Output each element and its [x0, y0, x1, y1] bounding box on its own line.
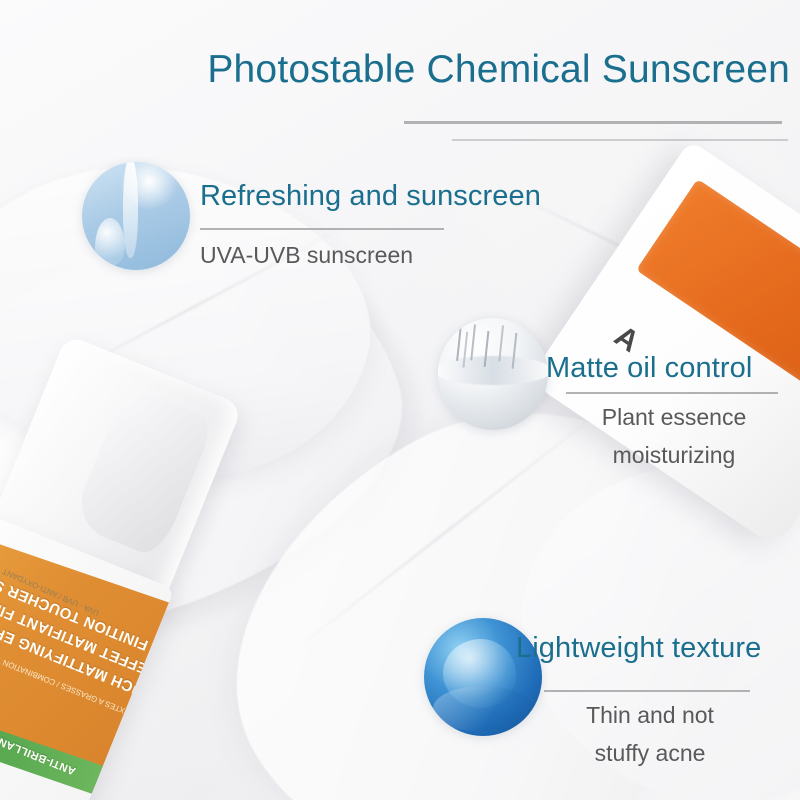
feature-subtext-line: moisturizing [566, 436, 782, 474]
feature-subtext: Thin and not stuffy acne [544, 696, 756, 772]
title-rule-upper [404, 121, 782, 124]
water-splash-sphere-icon [438, 318, 548, 430]
feature-divider [566, 392, 778, 394]
product-bottle-main: FINITION TOUCHER SEC EFFET MATIFIANT FIN… [0, 323, 271, 800]
feature-divider [544, 690, 750, 692]
water-droplets-icon [82, 162, 190, 270]
product-tube-top-right: A [528, 140, 800, 548]
feature-subtext-line: Thin and not [544, 696, 756, 734]
product-feature-poster: A FINITION TOUCHER SEC EFFET MATIFIANT F… [0, 0, 800, 800]
feature-heading: Refreshing and sunscreen [200, 180, 541, 213]
feature-heading: Matte oil control [546, 352, 752, 385]
page-title: Photostable Chemical Sunscreen [0, 48, 790, 92]
feature-subtext: Plant essence moisturizing [566, 398, 782, 474]
title-rule-lower [452, 139, 788, 141]
feature-subtext-line: stuffy acne [544, 734, 756, 772]
feature-subtext-line: Plant essence [566, 398, 782, 436]
feature-heading: Lightweight texture [516, 632, 761, 665]
feature-divider [200, 228, 444, 230]
feature-subtext: UVA-UVB sunscreen [200, 236, 413, 274]
bottle-cap-highlight [70, 384, 215, 559]
